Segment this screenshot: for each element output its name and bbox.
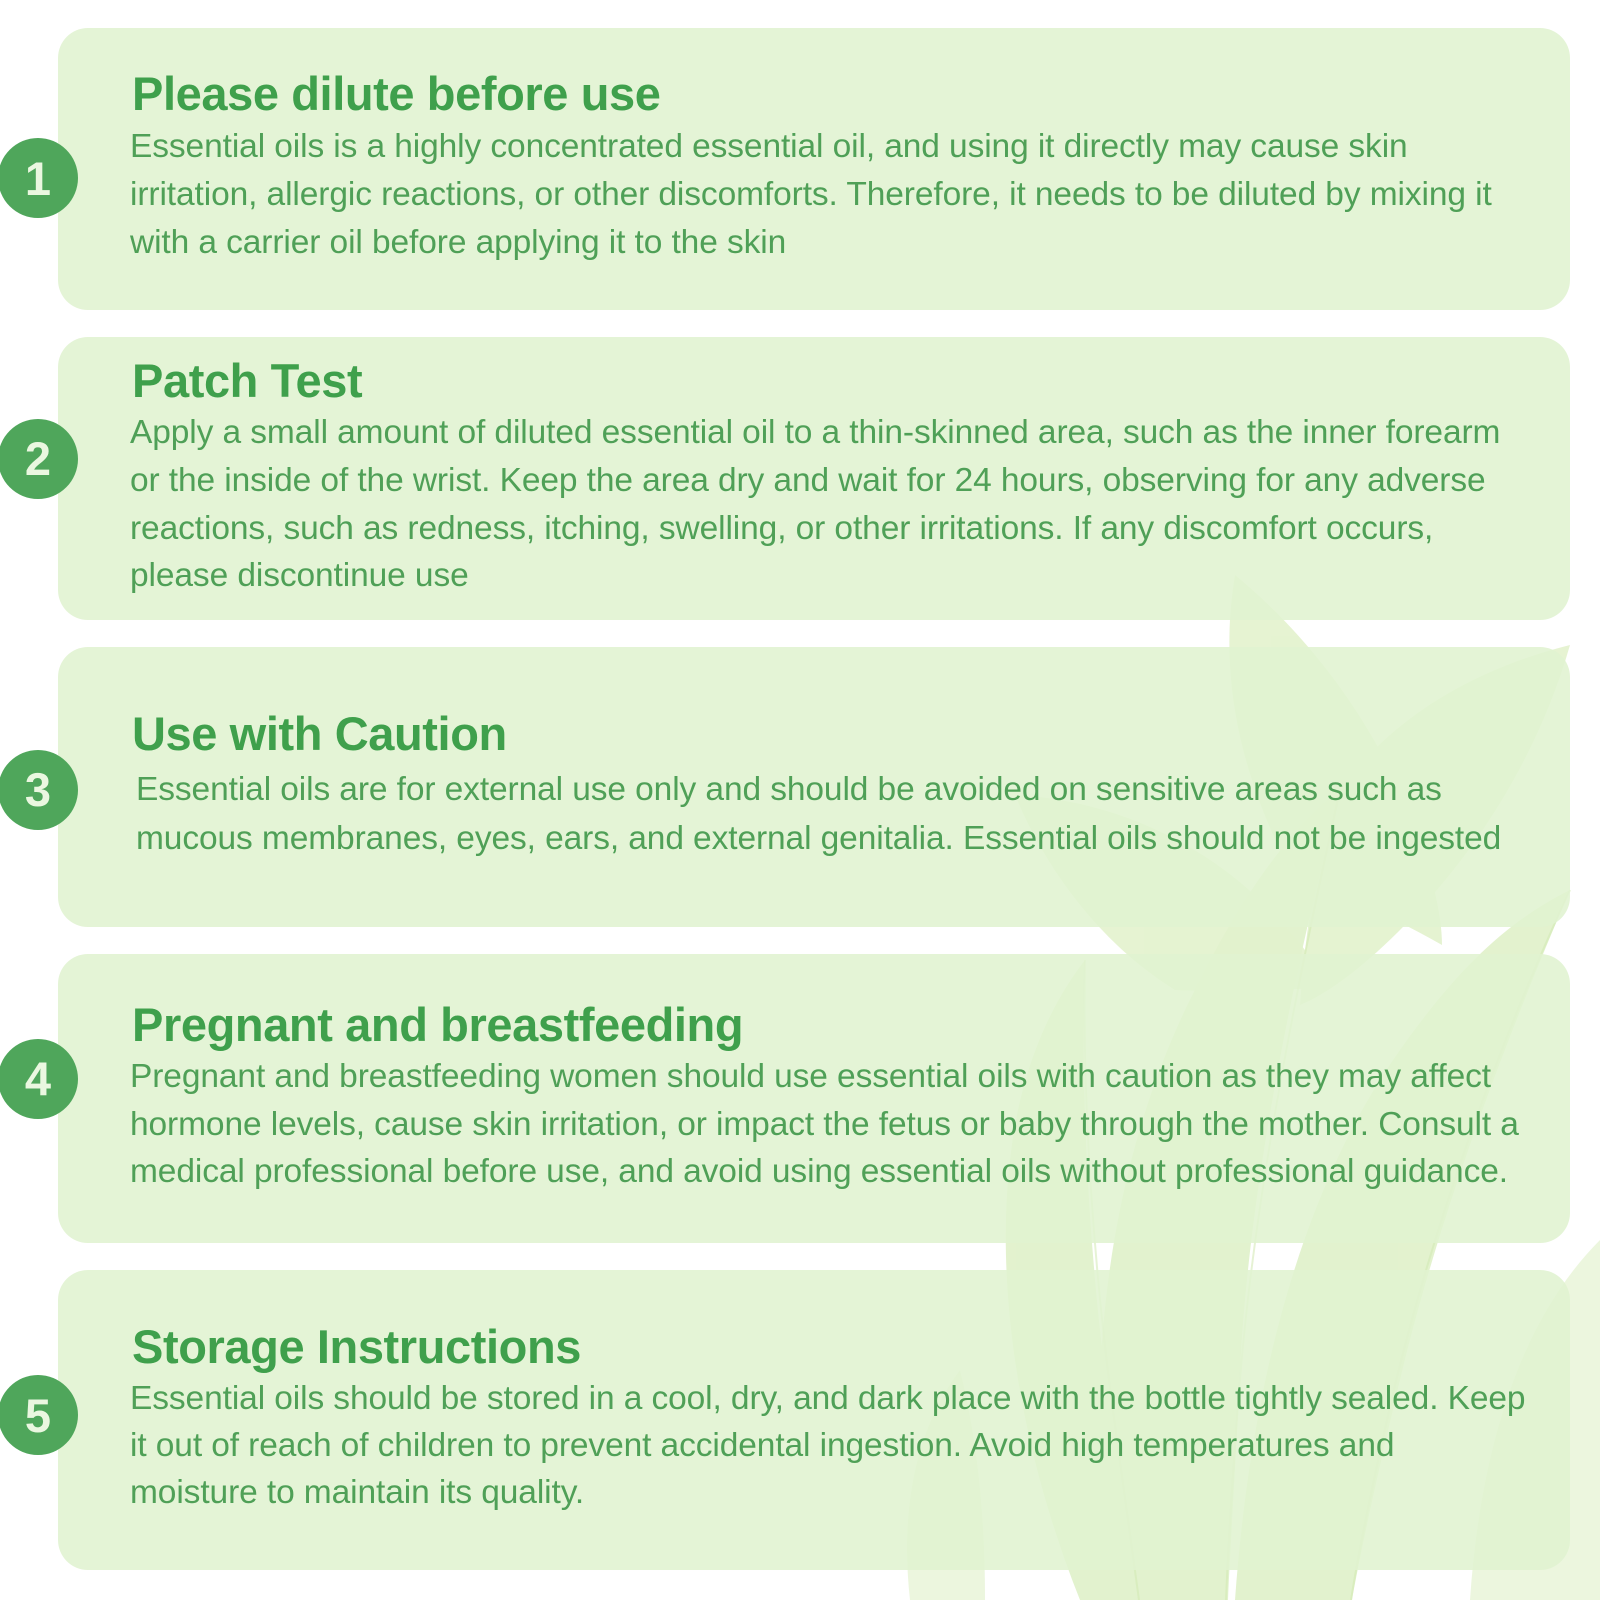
step-number-badge-5: 5: [0, 1375, 78, 1455]
step-number-badge-4: 4: [0, 1039, 78, 1119]
card-body-5: Essential oils should be stored in a coo…: [130, 1376, 1530, 1517]
card-title-5: Storage Instructions: [132, 1321, 1530, 1374]
instruction-card-4: 4 Pregnant and breastfeeding Pregnant an…: [58, 954, 1570, 1244]
card-title-2: Patch Test: [132, 355, 1530, 408]
step-number-badge-3: 3: [0, 750, 78, 830]
card-body-4: Pregnant and breastfeeding women should …: [130, 1053, 1530, 1196]
step-number-badge-2: 2: [0, 419, 78, 499]
card-body-2: Apply a small amount of diluted essentia…: [130, 409, 1530, 599]
safety-instructions-page: 1 Please dilute before use Essential oil…: [0, 0, 1600, 1600]
card-body-1: Essential oils is a highly concentrated …: [130, 123, 1530, 268]
card-title-4: Pregnant and breastfeeding: [132, 999, 1530, 1052]
instruction-card-list: 1 Please dilute before use Essential oil…: [0, 0, 1600, 1600]
card-body-3: Essential oils are for external use only…: [136, 766, 1530, 863]
card-title-1: Please dilute before use: [132, 68, 1530, 121]
step-number-badge-1: 1: [0, 138, 78, 218]
instruction-card-1: 1 Please dilute before use Essential oil…: [58, 28, 1570, 310]
instruction-card-5: 5 Storage Instructions Essential oils sh…: [58, 1270, 1570, 1570]
card-title-3: Use with Caution: [132, 708, 1530, 761]
instruction-card-3: 3 Use with Caution Essential oils are fo…: [58, 647, 1570, 927]
instruction-card-2: 2 Patch Test Apply a small amount of dil…: [58, 337, 1570, 620]
